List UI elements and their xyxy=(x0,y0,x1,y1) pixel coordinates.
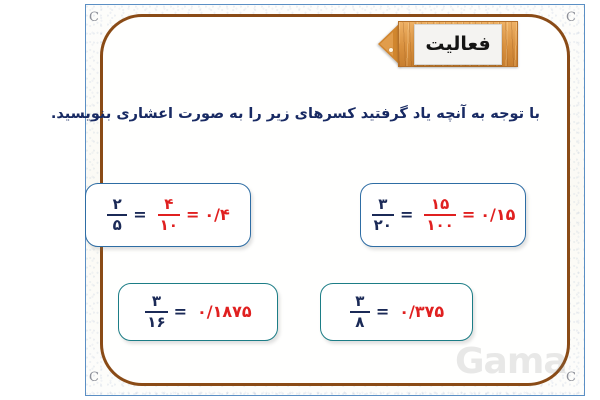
banner-title: فعالیت xyxy=(425,33,490,55)
numerator: ۳ xyxy=(376,197,389,212)
denominator: ۱۰۰ xyxy=(424,218,455,233)
equals-sign-2b: = xyxy=(462,207,475,223)
numerator: ۲ xyxy=(111,197,124,212)
equals-sign-2a: = xyxy=(400,207,413,223)
fraction-2-original: ۳ ۲۰ xyxy=(371,197,395,233)
equals-sign-3: = xyxy=(174,304,187,320)
exercise-box-3: ۳ ۱۶ = ٠/۱۸۷۵ xyxy=(118,283,278,341)
corner-mark-bottom-right: C xyxy=(566,371,576,384)
corner-mark-bottom-left: C xyxy=(89,371,99,384)
denominator: ۱۰ xyxy=(158,218,180,233)
corner-mark-top-right: C xyxy=(566,11,576,24)
decimal-answer-4: ٠/۳۷۵ xyxy=(399,304,444,320)
exercise-expression-2: ۳ ۲۰ = ۱۵ ۱۰۰ = ٠/۱۵ xyxy=(371,197,516,233)
exercise-box-2: ۳ ۲۰ = ۱۵ ۱۰۰ = ٠/۱۵ xyxy=(360,183,526,247)
exercise-box-4: ۳ ۸ = ٠/۳۷۵ xyxy=(320,283,473,341)
equals-sign-4: = xyxy=(376,304,389,320)
fraction-1-original: ۲ ۵ xyxy=(106,197,128,233)
numerator: ۳ xyxy=(150,294,163,309)
denominator: ۵ xyxy=(111,218,124,233)
activity-banner: فعالیت xyxy=(378,18,518,70)
exercise-expression-4: ۳ ۸ = ٠/۳۷۵ xyxy=(349,294,444,330)
signpost-arrow-grain xyxy=(380,32,393,56)
decimal-answer-1: ٠/۴ xyxy=(204,207,229,223)
numerator: ۴ xyxy=(162,197,175,212)
denominator: ۸ xyxy=(353,315,366,330)
denominator: ۲۰ xyxy=(372,218,394,233)
fraction-2-equivalent: ۱۵ ۱۰۰ xyxy=(423,197,456,233)
worksheet-page: C C C C فعالیت با توجه به آنچه یاد گرفتی… xyxy=(0,0,600,400)
signpost-nail-icon xyxy=(389,48,393,52)
decimal-answer-2: ٠/۱۵ xyxy=(480,207,515,223)
fraction-4-original: ۳ ۸ xyxy=(349,294,371,330)
instruction-text: با توجه به آنچه یاد گرفتید کسرهای زیر را… xyxy=(60,106,540,122)
equals-sign-1b: = xyxy=(186,207,199,223)
exercise-box-1: ۲ ۵ = ۴ ۱۰ = ٠/۴ xyxy=(85,183,251,247)
equals-sign-1a: = xyxy=(133,207,146,223)
numerator: ۳ xyxy=(353,294,366,309)
decimal-answer-3: ٠/۱۸۷۵ xyxy=(197,304,252,320)
fraction-1-equivalent: ۴ ۱۰ xyxy=(157,197,181,233)
exercise-expression-3: ۳ ۱۶ = ٠/۱۸۷۵ xyxy=(144,294,251,330)
corner-mark-top-left: C xyxy=(89,11,99,24)
denominator: ۱۶ xyxy=(145,315,167,330)
fraction-3-original: ۳ ۱۶ xyxy=(144,294,168,330)
banner-label: فعالیت xyxy=(414,24,502,65)
exercise-expression-1: ۲ ۵ = ۴ ۱۰ = ٠/۴ xyxy=(106,197,230,233)
numerator: ۱۵ xyxy=(429,197,451,212)
